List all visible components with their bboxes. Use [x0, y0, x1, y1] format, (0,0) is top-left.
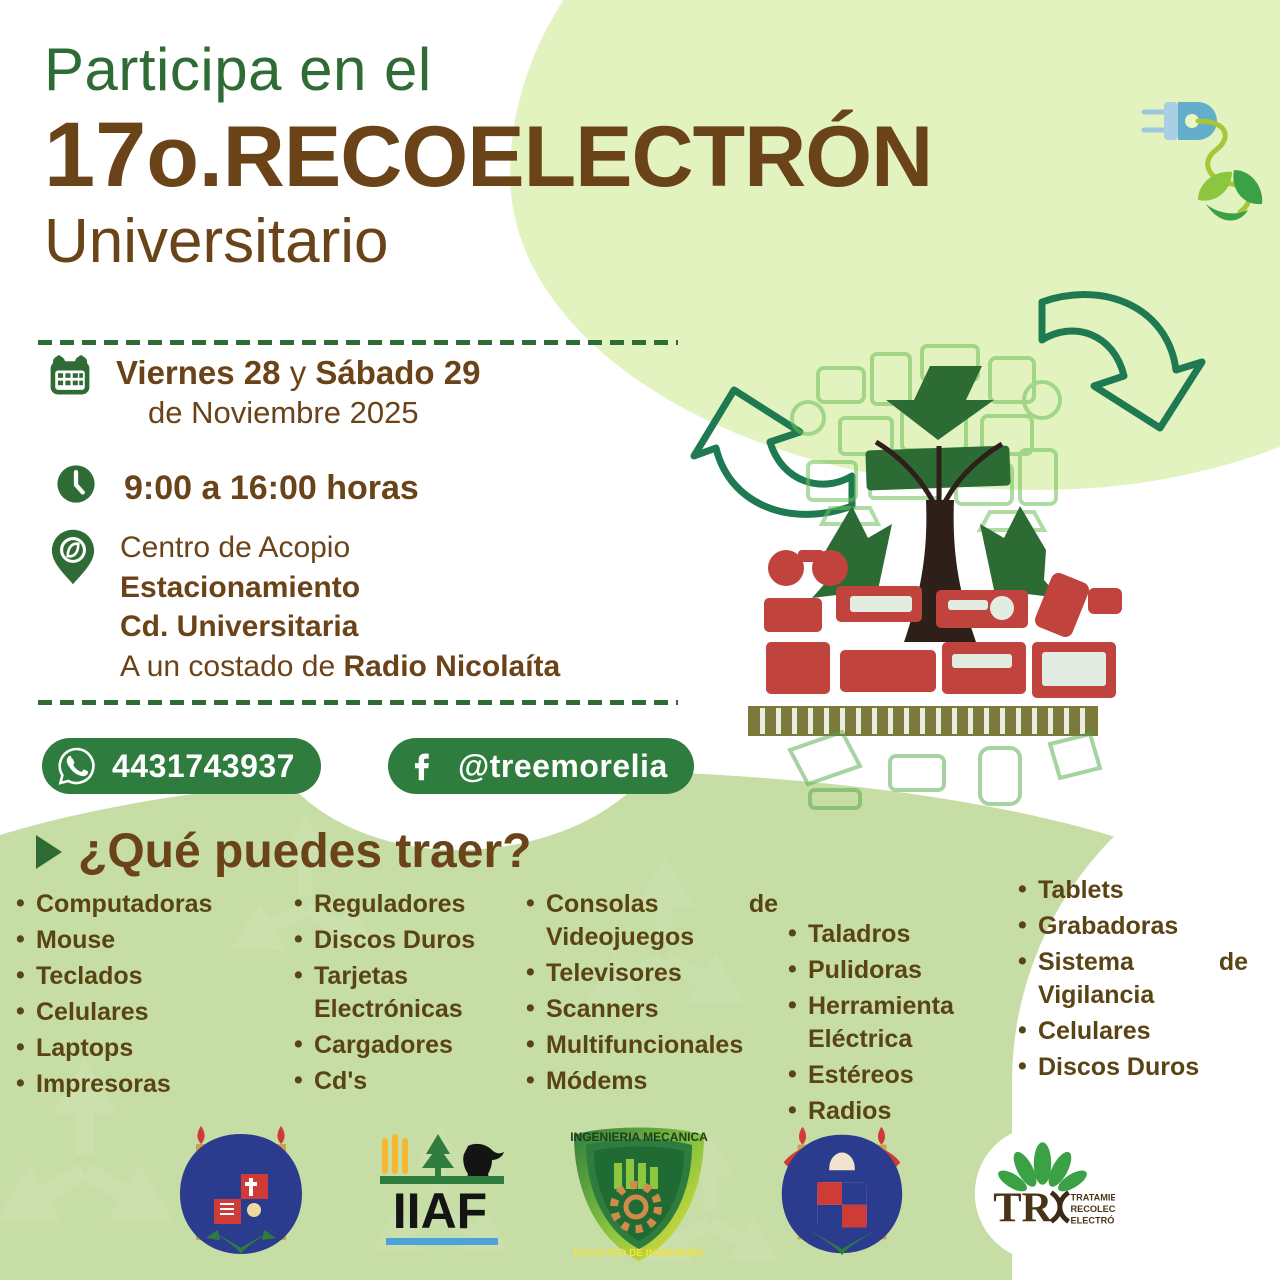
- list-item: Tarjetas Electrónicas: [292, 960, 520, 1026]
- triangle-bullet-icon: [36, 835, 62, 869]
- section-heading-text: ¿Qué puedes traer?: [78, 824, 531, 879]
- ingenieria-mecanica-logo: INGENIERIA MECANICA FACULTAD DE INGENIER…: [564, 1119, 714, 1272]
- list-item: Consolas de Videojuegos: [524, 888, 782, 954]
- list-item: Reguladores: [292, 888, 520, 921]
- calendar-icon: [46, 352, 98, 405]
- items-column-1: Computadoras Mouse Teclados Celulares La…: [14, 888, 292, 1104]
- date-text: Viernes 28 y Sábado 29 de Noviembre 2025: [116, 352, 480, 434]
- place-prefix: A un costado de: [120, 650, 344, 683]
- facebook-handle: @treemorelia: [458, 748, 668, 785]
- place-line-2: Estacionamiento: [120, 568, 560, 608]
- time-text: 9:00 a 16:00 horas: [124, 462, 419, 509]
- event-name: RECOELECTRÓN: [223, 109, 932, 205]
- clock-icon: [54, 462, 106, 511]
- place-line-3: Cd. Universitaria: [120, 607, 560, 647]
- date-conjunction: y: [281, 354, 316, 391]
- ewaste-recycling-tree: [690, 250, 1210, 810]
- list-item: Tablets: [1016, 874, 1252, 907]
- whatsapp-icon: [56, 745, 98, 787]
- location-pin-icon: [50, 528, 102, 591]
- list-item: Taladros: [786, 918, 1012, 951]
- list-item: Mouse: [14, 924, 288, 957]
- shield-caption-top: INGENIERIA MECANICA: [570, 1130, 708, 1144]
- place-text: Centro de Acopio Estacionamiento Cd. Uni…: [120, 528, 560, 686]
- list-item: Computadoras: [14, 888, 288, 921]
- divider-top: [38, 340, 678, 345]
- list-item: Cd's: [292, 1065, 520, 1098]
- list-item: Módems: [524, 1065, 782, 1098]
- list-item: Scanners: [524, 993, 782, 1026]
- tre-caption-2: RECOLECCIÓN: [1070, 1202, 1114, 1213]
- list-item: Televisores: [524, 957, 782, 990]
- list-item: Laptops: [14, 1032, 288, 1065]
- list-item: Teclados: [14, 960, 288, 993]
- iiaf-logo: IIAF: [370, 1128, 510, 1263]
- facebook-icon: [402, 745, 444, 787]
- place-row: Centro de Acopio Estacionamiento Cd. Uni…: [50, 528, 560, 686]
- items-column-3: Consolas de Videojuegos Televisores Scan…: [524, 888, 786, 1101]
- poster-header: Participa en el 17o.RECOELECTRÓN Univers…: [44, 38, 1194, 274]
- tre-wordmark: TR: [993, 1184, 1053, 1231]
- list-item: Pulidoras: [786, 954, 1012, 987]
- place-line-4: A un costado de Radio Nicolaíta: [120, 647, 560, 687]
- edition-number: 17: [44, 104, 146, 206]
- poster-canvas: Participa en el 17o.RECOELECTRÓN Univers…: [0, 0, 1280, 1280]
- list-item: Estéreos: [786, 1059, 1012, 1092]
- section-heading: ¿Qué puedes traer?: [36, 824, 531, 879]
- edition-ordinal: o.: [146, 109, 222, 205]
- sponsor-logos: IIAF: [0, 1118, 1280, 1273]
- date-row: Viernes 28 y Sábado 29 de Noviembre 2025: [46, 352, 480, 434]
- tre-caption-1: TRATAMIENTO: [1070, 1192, 1114, 1202]
- items-column-5: Tablets Grabadoras Sistema de Vigilancia…: [1016, 874, 1256, 1087]
- header-title: 17o.RECOELECTRÓN: [44, 109, 1194, 201]
- place-line-1: Centro de Acopio: [120, 528, 560, 568]
- list-item: Multifuncionales: [524, 1029, 782, 1062]
- facebook-contact-pill[interactable]: @treemorelia: [388, 738, 694, 794]
- umsnh-crest-logo-2: [768, 1119, 916, 1272]
- date-line-1: Viernes 28 y Sábado 29: [116, 352, 480, 393]
- list-item: Celulares: [1016, 1015, 1252, 1048]
- items-column-4: Taladros Pulidoras Herramienta Eléctrica…: [786, 904, 1016, 1131]
- list-item: Cargadores: [292, 1029, 520, 1062]
- list-item: Discos Duros: [292, 924, 520, 957]
- accepted-items-grid: Computadoras Mouse Teclados Celulares La…: [14, 888, 1270, 1131]
- place-landmark: Radio Nicolaíta: [344, 650, 561, 683]
- tre-logo: TR TRATAMIENTO RECOLECCIÓN ELECTRÓNICOS: [970, 1121, 1115, 1271]
- time-row: 9:00 a 16:00 horas: [54, 462, 419, 511]
- header-line-3: Universitario: [44, 209, 1194, 274]
- list-item: Impresoras: [14, 1068, 288, 1101]
- list-item: Discos Duros: [1016, 1051, 1252, 1084]
- iiaf-wordmark: IIAF: [392, 1183, 486, 1239]
- umsnh-crest-logo: [166, 1118, 316, 1273]
- items-column-2: Reguladores Discos Duros Tarjetas Electr…: [292, 888, 524, 1101]
- shield-caption-bottom: FACULTAD DE INGENIERIA: [573, 1248, 703, 1259]
- date-line-2: de Noviembre 2025: [116, 393, 480, 433]
- date-day-1: Viernes 28: [116, 354, 281, 391]
- list-item: Grabadoras: [1016, 910, 1252, 943]
- tre-caption-3: ELECTRÓNICOS: [1070, 1214, 1114, 1225]
- list-item: Herramienta Eléctrica: [786, 990, 1012, 1056]
- list-item: Sistema de Vigilancia: [1016, 946, 1252, 1012]
- whatsapp-contact-pill[interactable]: 4431743937: [42, 738, 321, 794]
- header-line-1: Participa en el: [44, 38, 1194, 101]
- whatsapp-number: 4431743937: [112, 748, 295, 785]
- divider-bottom: [38, 700, 678, 705]
- date-day-2: Sábado 29: [315, 354, 480, 391]
- list-item: Celulares: [14, 996, 288, 1029]
